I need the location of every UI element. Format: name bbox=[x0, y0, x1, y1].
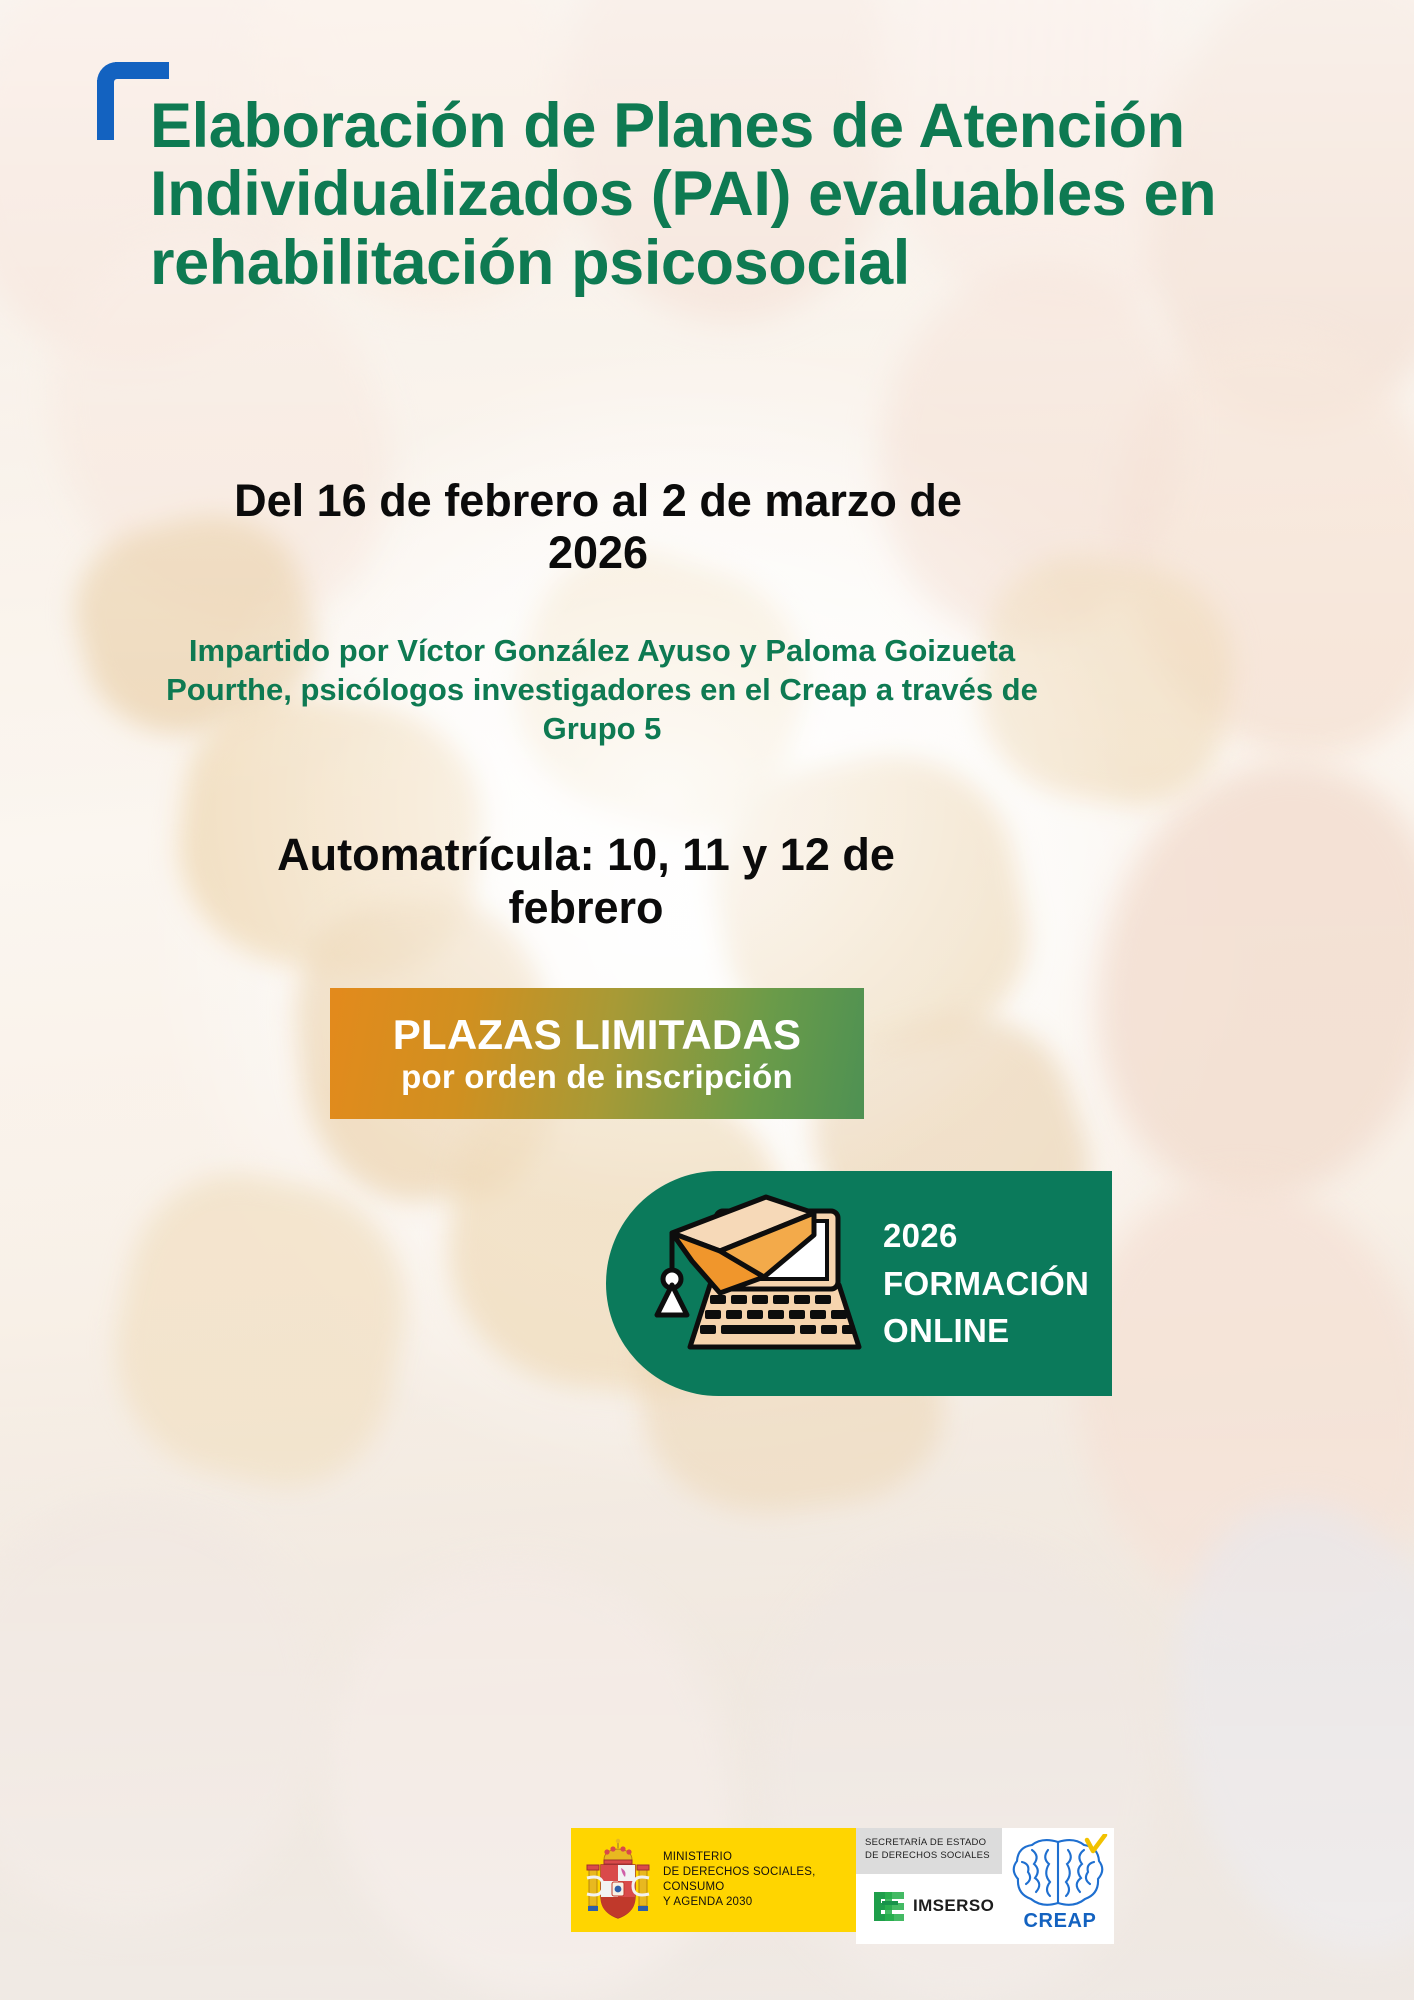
ministry-line2: DE DERECHOS SOCIALES, CONSUMO bbox=[663, 1865, 856, 1895]
limited-places-subline: por orden de inscripción bbox=[401, 1058, 793, 1096]
secretariat-line1: SECRETARÍA DE ESTADO bbox=[865, 1837, 1002, 1850]
limited-places-headline: PLAZAS LIMITADAS bbox=[393, 1013, 801, 1056]
poster-root: Elaboración de Planes de Atención Indivi… bbox=[0, 0, 1414, 2000]
ministry-logo: MINISTERIO DE DERECHOS SOCIALES, CONSUMO… bbox=[571, 1828, 856, 1932]
imserso-wordmark: IMSERSO bbox=[913, 1896, 994, 1916]
course-dates: Del 16 de febrero al 2 de marzo de 2026 bbox=[218, 475, 978, 579]
poster-content: Elaboración de Planes de Atención Indivi… bbox=[0, 0, 1414, 2000]
secretariat-band: SECRETARÍA DE ESTADO DE DERECHOS SOCIALE… bbox=[856, 1828, 1002, 1874]
online-training-badge: 2026 FORMACIÓN ONLINE bbox=[606, 1171, 1112, 1396]
limited-places-banner: PLAZAS LIMITADAS por orden de inscripció… bbox=[330, 988, 864, 1119]
online-badge-text: 2026 FORMACIÓN ONLINE bbox=[883, 1212, 1089, 1356]
secretariat-imserso-creap-logos: SECRETARÍA DE ESTADO DE DERECHOS SOCIALE… bbox=[856, 1828, 1114, 1944]
ministry-text: MINISTERIO DE DERECHOS SOCIALES, CONSUMO… bbox=[663, 1850, 856, 1910]
enrolment-dates: Automatrícula: 10, 11 y 12 de febrero bbox=[196, 828, 976, 934]
creap-logo: CREAP bbox=[1004, 1828, 1114, 1944]
brain-icon bbox=[1008, 1834, 1108, 1910]
badge-year: 2026 bbox=[883, 1212, 1089, 1260]
secretariat-column: SECRETARÍA DE ESTADO DE DERECHOS SOCIALE… bbox=[856, 1828, 1004, 1944]
instructors-text: Impartido por Víctor González Ayuso y Pa… bbox=[152, 632, 1052, 748]
secretariat-line2: DE DERECHOS SOCIALES bbox=[865, 1850, 1002, 1863]
ministry-line3: Y AGENDA 2030 bbox=[663, 1895, 856, 1910]
badge-formacion: FORMACIÓN bbox=[883, 1260, 1089, 1308]
footer-logos: MINISTERIO DE DERECHOS SOCIALES, CONSUMO… bbox=[571, 1828, 1114, 1944]
imserso-logo-icon bbox=[872, 1890, 906, 1922]
ministry-line1: MINISTERIO bbox=[663, 1850, 856, 1865]
badge-online: ONLINE bbox=[883, 1307, 1089, 1355]
imserso-logo: IMSERSO bbox=[872, 1890, 994, 1922]
page-title: Elaboración de Planes de Atención Indivi… bbox=[150, 92, 1240, 297]
laptop-graduation-cap-icon bbox=[654, 1189, 869, 1379]
spain-coat-of-arms-icon bbox=[583, 1838, 653, 1922]
creap-wordmark: CREAP bbox=[1010, 1910, 1110, 1933]
